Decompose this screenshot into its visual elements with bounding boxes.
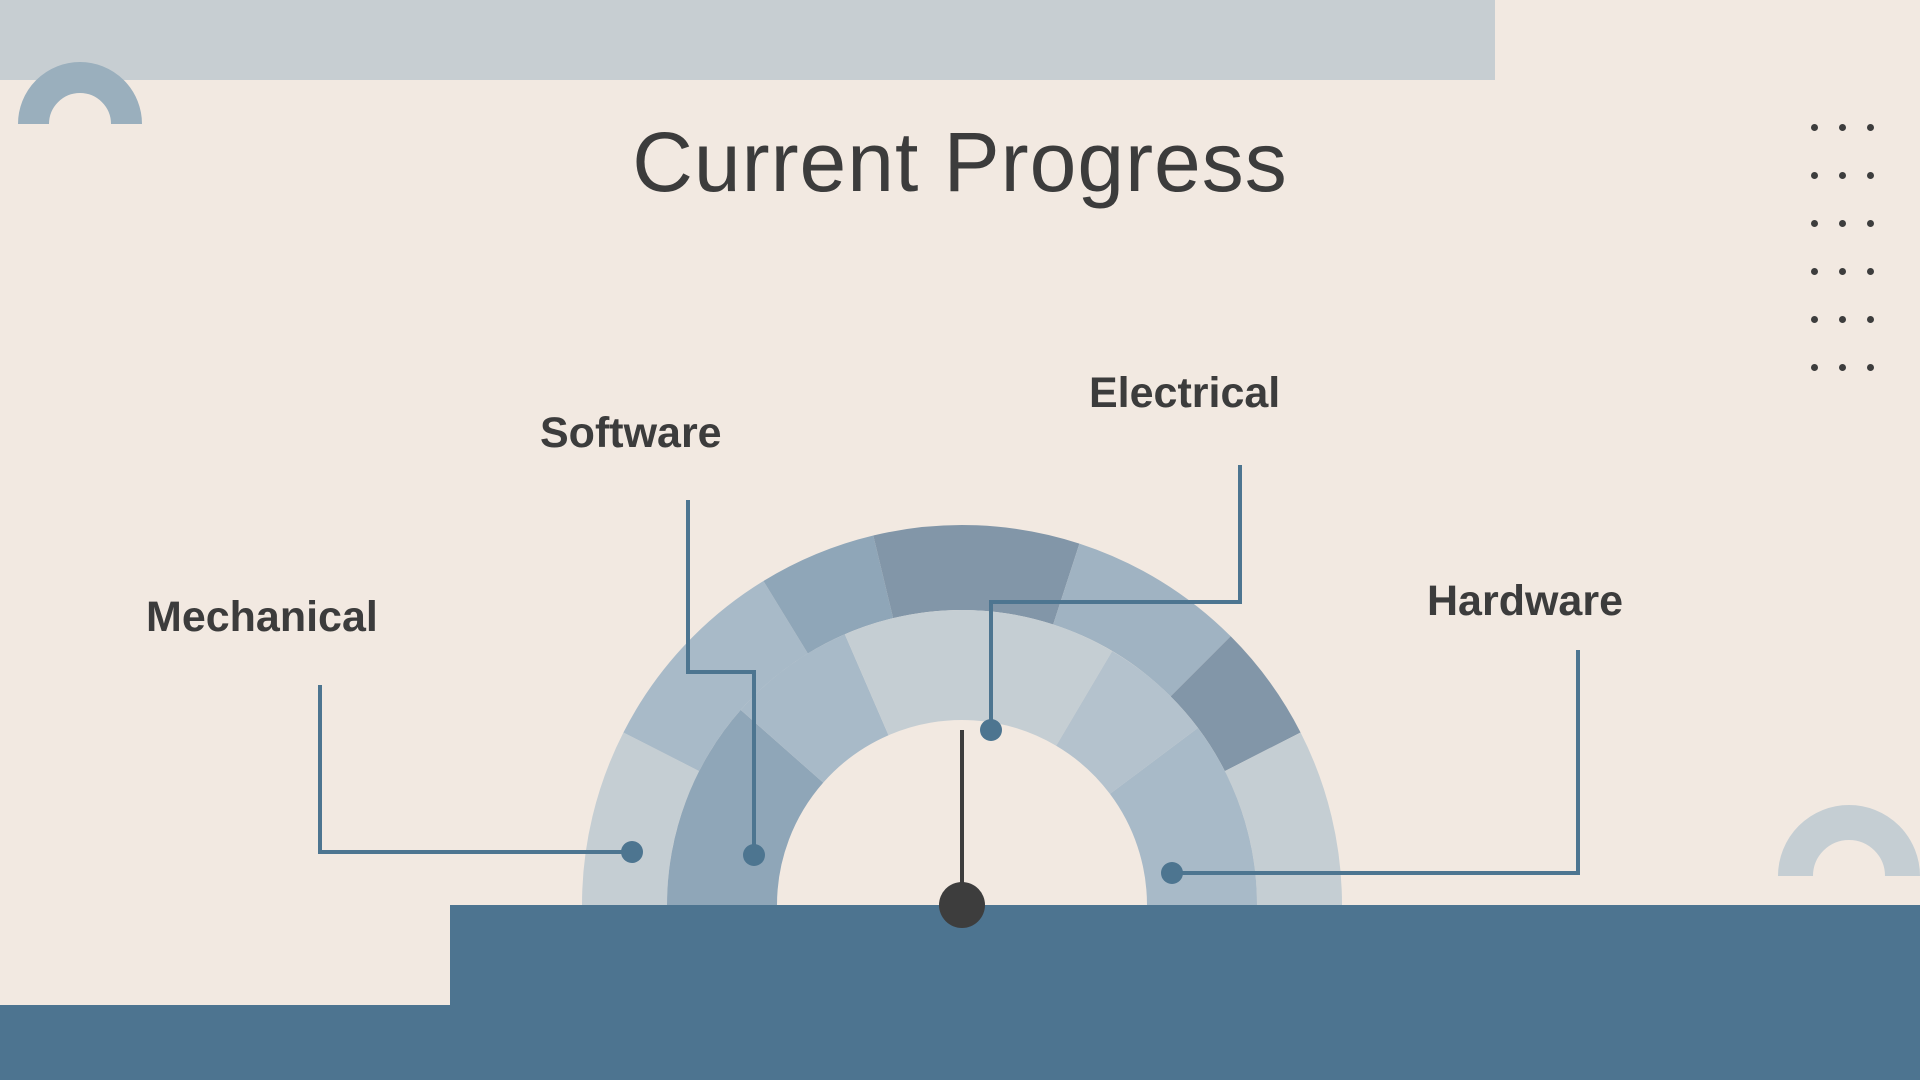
connector-line-hardware [1172, 650, 1578, 873]
callout-label-electrical[interactable]: Electrical [1089, 372, 1280, 415]
connector-line-mechanical [320, 685, 632, 852]
connector-marker-software[interactable] [743, 844, 765, 866]
callout-label-hardware[interactable]: Hardware [1427, 580, 1623, 623]
connector-marker-hardware[interactable] [1161, 862, 1183, 884]
slide-canvas: Current Progress Mechanical Software Ele… [0, 0, 1920, 1080]
callout-label-software[interactable]: Software [540, 412, 722, 455]
connector-marker-electrical[interactable] [980, 719, 1002, 741]
callout-connectors [0, 0, 1920, 1080]
callout-label-mechanical[interactable]: Mechanical [146, 596, 378, 639]
connector-line-software [688, 500, 754, 855]
connector-marker-mechanical[interactable] [621, 841, 643, 863]
connector-line-electrical [991, 465, 1240, 730]
